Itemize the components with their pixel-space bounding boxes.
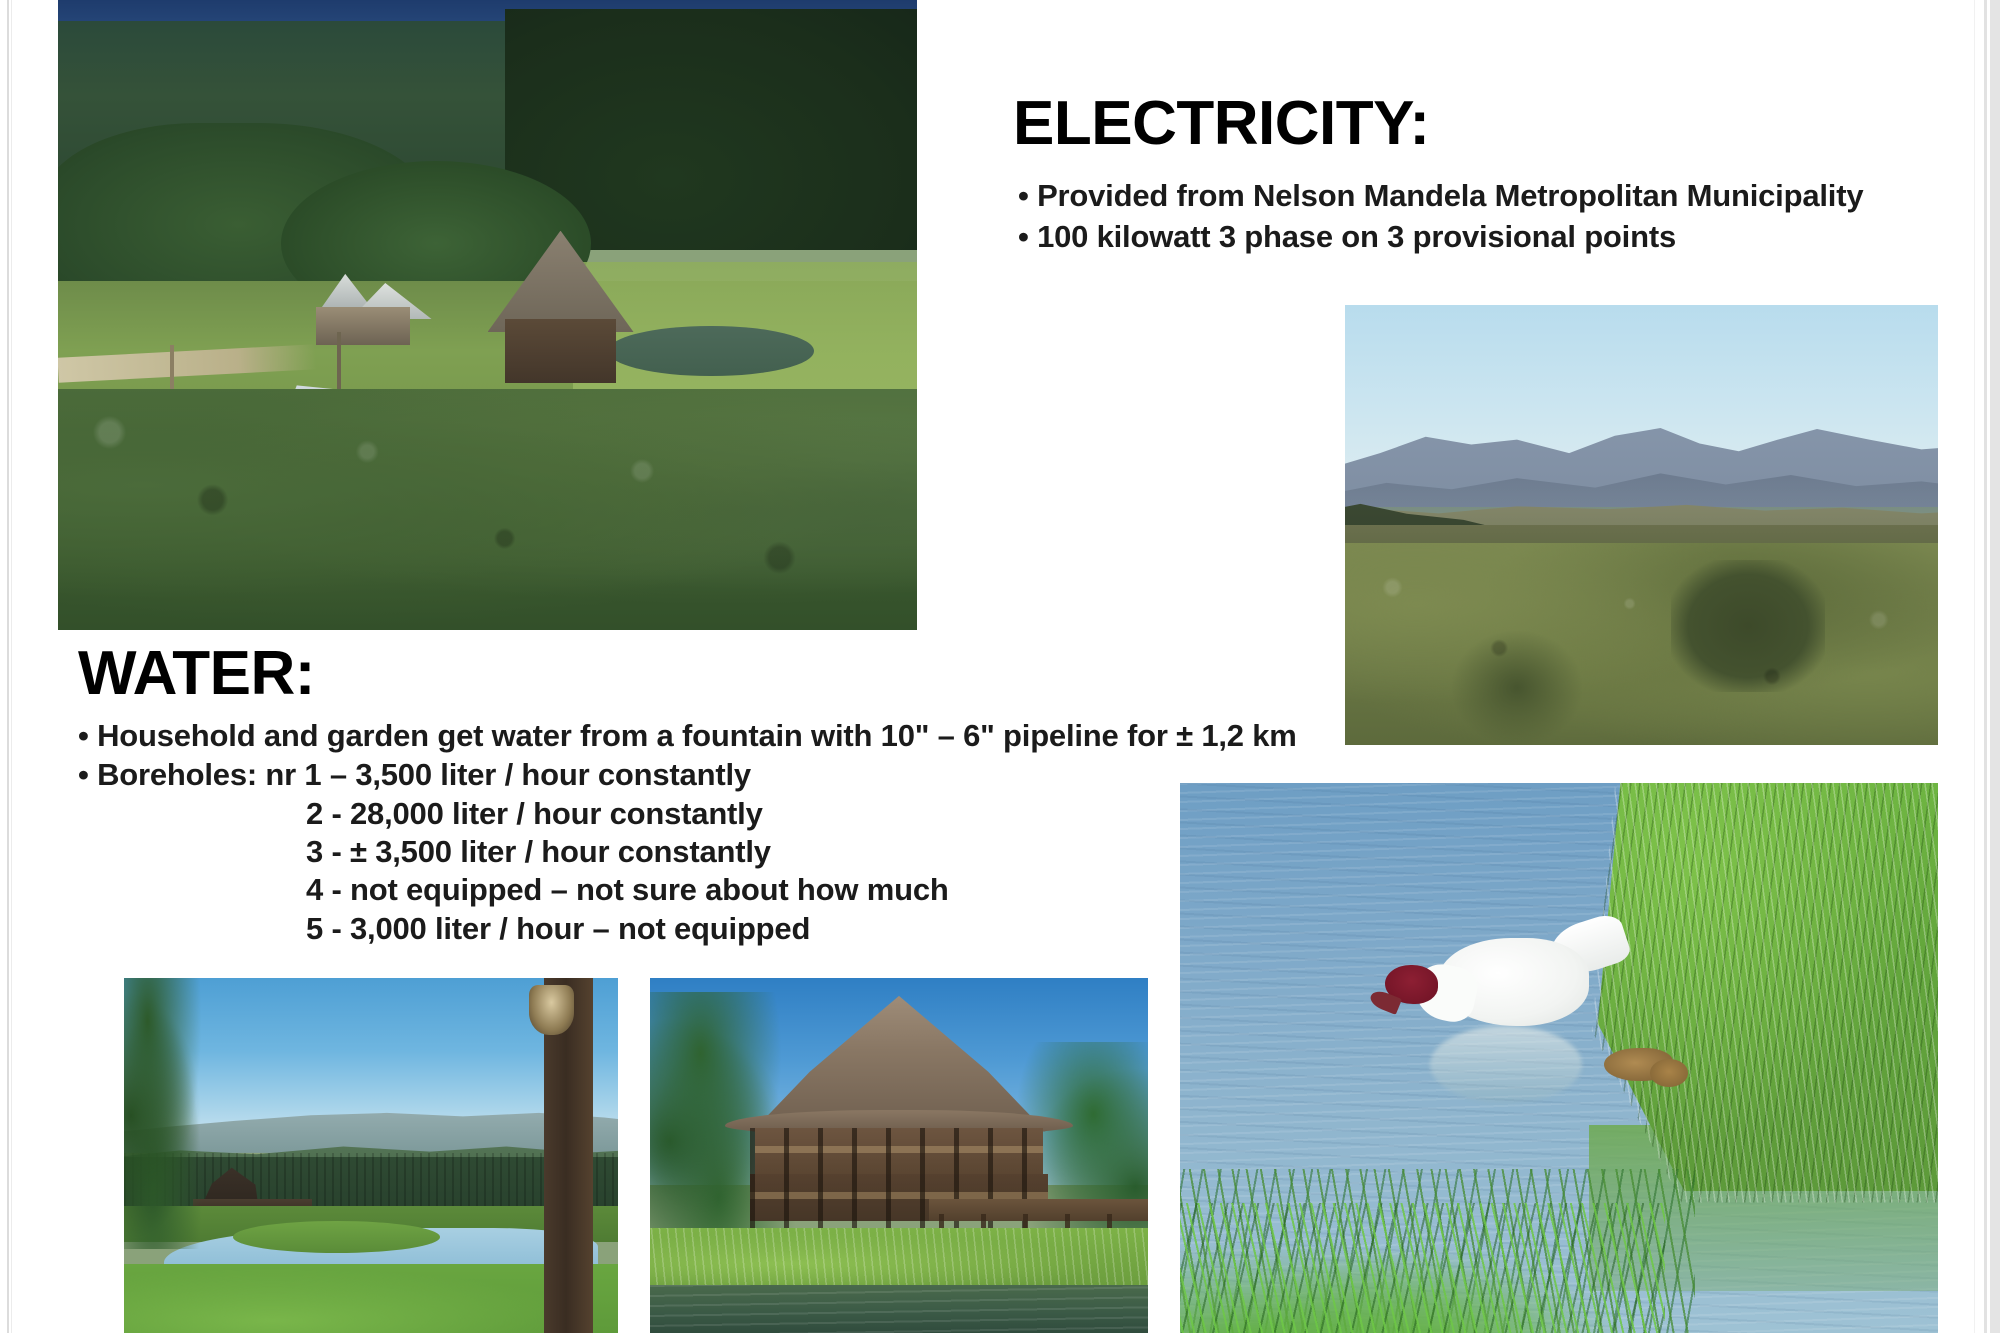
electricity-bullet-2: • 100 kilowatt 3 phase on 3 provisional … — [1018, 219, 1676, 255]
farm-pond — [608, 326, 814, 377]
borehole-line-4: 4 - not equipped – not sure about how mu… — [306, 872, 949, 908]
farmhouse-wall — [316, 307, 410, 345]
borehole-line-5: 5 - 3,000 liter / hour – not equipped — [306, 911, 810, 947]
photo-duck-pond — [1180, 783, 1938, 1333]
tree-foliage-left — [124, 978, 213, 1249]
water-bullet-1: • Household and garden get water from a … — [78, 718, 1297, 754]
borehole-line-3: 3 - ± 3,500 liter / hour constantly — [306, 834, 771, 870]
electricity-heading: ELECTRICITY: — [1013, 88, 1430, 159]
photo-mountains — [1345, 305, 1938, 745]
page-edge-band-right — [1990, 0, 2000, 1333]
photo-dam-view — [124, 978, 618, 1333]
pond-ripple-texture — [650, 1285, 1148, 1333]
utility-pole-centre — [337, 332, 341, 395]
dam-view-scene — [124, 978, 618, 1333]
rondavel-wall — [505, 319, 617, 382]
photo-farm-overview — [58, 0, 917, 630]
round-lodge-scene — [650, 978, 1148, 1333]
duck-pond-scene — [1180, 783, 1938, 1333]
photo-round-lodge — [650, 978, 1148, 1333]
page-edge-line-right-outer — [1984, 0, 1987, 1333]
page-edge-line-right-inner — [1974, 0, 1975, 1333]
duck-reflection — [1430, 1026, 1582, 1103]
water-bullet-2: • Boreholes: nr 1 – 3,500 liter / hour c… — [78, 757, 751, 793]
mountain-scene — [1345, 305, 1938, 745]
electricity-bullet-1: • Provided from Nelson Mandela Metropoli… — [1018, 178, 1863, 214]
veld-texture — [1345, 543, 1938, 745]
page-edge-line-left-inner — [11, 0, 12, 1333]
foreground-scrub-texture — [58, 389, 917, 630]
reed-island — [233, 1221, 440, 1253]
water-heading: WATER: — [78, 638, 315, 709]
farm-overview-scene — [58, 0, 917, 630]
foreground-grass-blades — [1180, 1203, 1665, 1333]
duckling-two — [1650, 1059, 1688, 1087]
borehole-line-2: 2 - 28,000 liter / hour constantly — [306, 796, 763, 832]
slide-canvas: ELECTRICITY: • Provided from Nelson Mand… — [0, 0, 2000, 1333]
page-edge-line-left-outer — [7, 0, 9, 1333]
lantern-lamp — [529, 985, 573, 1035]
